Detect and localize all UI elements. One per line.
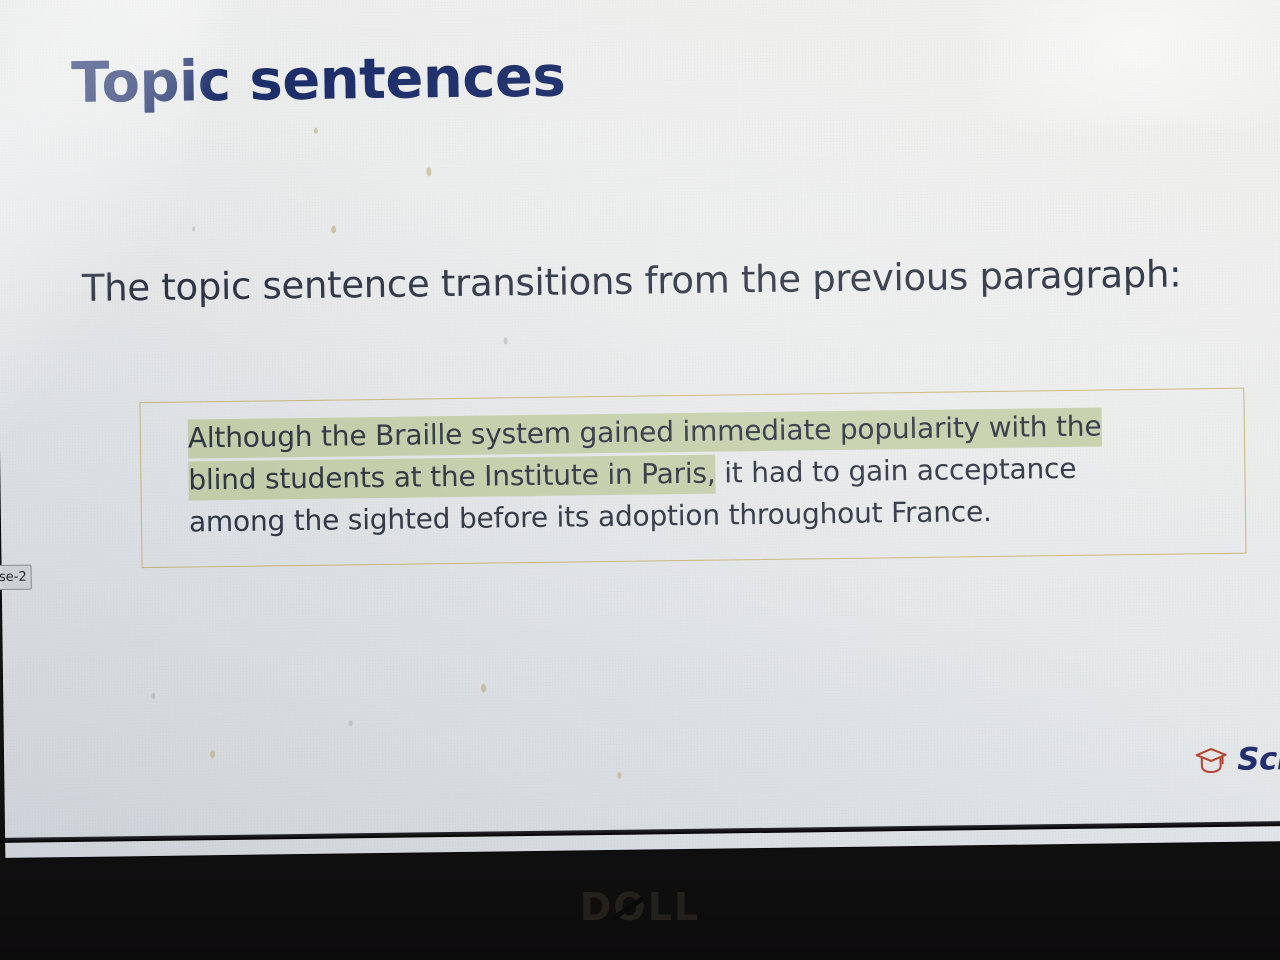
dust-speck xyxy=(349,720,353,726)
lead-paragraph: The topic sentence transitions from the … xyxy=(82,252,1182,309)
dust-speck xyxy=(331,226,336,234)
dell-logo-prefix: D xyxy=(580,885,614,929)
quote-text: Although the Braille system gained immed… xyxy=(188,405,1180,544)
dell-logo-o: O xyxy=(613,885,647,929)
dell-logo-suffix: LL xyxy=(648,885,700,929)
dust-speck xyxy=(481,684,486,693)
dust-speck xyxy=(426,167,431,176)
laptop-screen: Topic sentences The topic sentence trans… xyxy=(0,0,1280,858)
dust-speck xyxy=(151,693,155,699)
dell-logo: DOLL xyxy=(0,885,1280,929)
dust-speck xyxy=(210,750,215,758)
slide-canvas: Topic sentences The topic sentence trans… xyxy=(0,0,1280,858)
dust-speck xyxy=(504,337,508,344)
page-title: Topic sentences xyxy=(71,45,566,116)
brand-text: Scr xyxy=(1237,741,1280,778)
dust-speck xyxy=(192,226,195,231)
edge-tab-label: se-2 xyxy=(0,570,27,585)
graduation-cap-icon xyxy=(1194,745,1228,775)
dust-speck xyxy=(314,128,318,134)
laptop-photo: Topic sentences The topic sentence trans… xyxy=(0,0,1280,960)
glare-top-right xyxy=(983,0,1280,127)
edge-tab[interactable]: se-2 xyxy=(0,565,32,591)
dust-speck xyxy=(617,772,621,779)
watermark: Scr xyxy=(1194,741,1280,778)
